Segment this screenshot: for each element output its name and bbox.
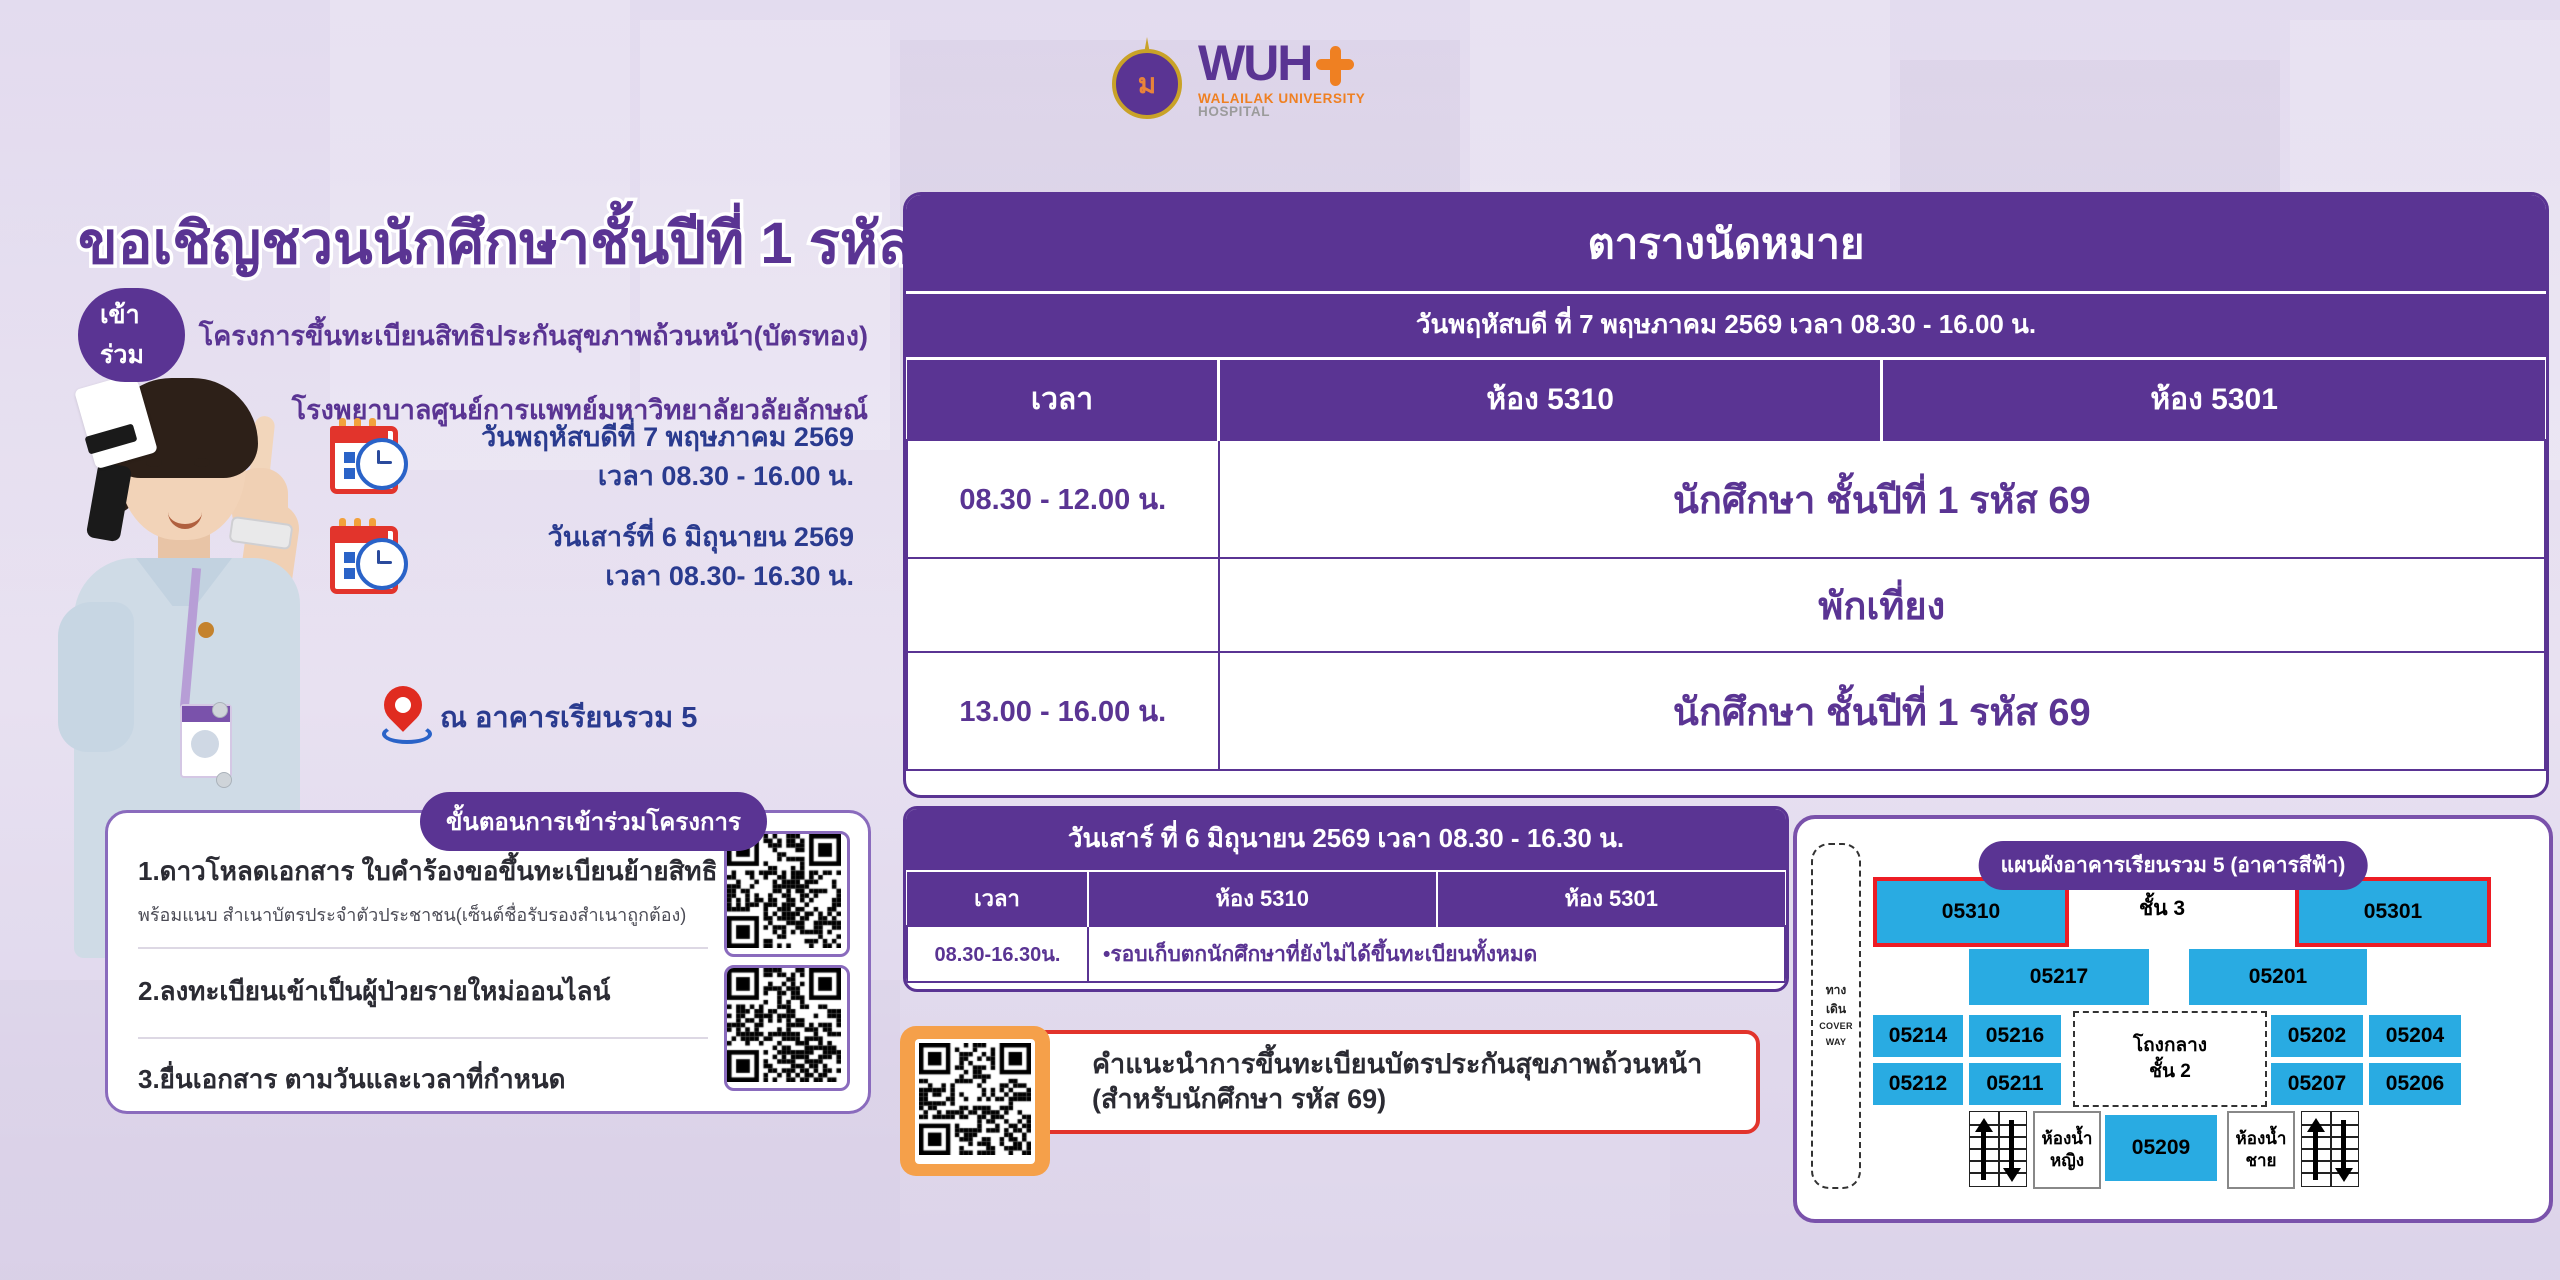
step-1-label: 1.ดาวโหลดเอกสาร ใบคำร้องขอขึ้นทะเบียนย้า…: [138, 851, 717, 892]
cell-time-afternoon: 13.00 - 16.00 น.: [907, 652, 1219, 770]
steps-title: ขั้นตอนการเข้าร่วมโครงการ: [420, 792, 767, 851]
cell-time-morning: 08.30 - 12.00 น.: [907, 440, 1219, 558]
schedule-date-saturday: วันเสาร์ ที่ 6 มิถุนายน 2569 เวลา 08.30 …: [906, 809, 1786, 870]
project-name: โครงการขึ้นทะเบียนสิทธิประกันสุขภาพถ้วนห…: [199, 314, 868, 357]
room-label: 05217: [2030, 965, 2088, 989]
time-line-2: เวลา 08.30- 16.30 น.: [605, 561, 854, 591]
table-row: 13.00 - 16.00 น. นักศึกษา ชั้นปีที่ 1 รห…: [907, 652, 2545, 770]
schedule-title: ตารางนัดหมาย: [906, 195, 2546, 291]
room-05206[interactable]: 05206: [2369, 1063, 2461, 1105]
calendar-clock-icon: [330, 418, 408, 490]
medical-cross-icon: [1314, 44, 1356, 88]
cell-activity-lunch: พักเที่ยง: [1219, 558, 2546, 652]
room-05211[interactable]: 05211: [1969, 1063, 2061, 1105]
map-pin-icon: [380, 686, 426, 748]
university-crest-icon: ม: [1110, 37, 1184, 119]
qr-code-register-online[interactable]: [724, 965, 850, 1091]
room-label: 05214: [1889, 1024, 1947, 1048]
room-label: 05201: [2249, 965, 2307, 989]
step-item: 3.ยื่นเอกสาร ตามวันและเวลาที่กำหนด: [138, 1059, 566, 1100]
step-item: 1.ดาวโหลดเอกสาร ใบคำร้องขอขึ้นทะเบียนย้า…: [138, 851, 717, 929]
room-label: 05204: [2386, 1024, 2444, 1048]
room-label: 05216: [1986, 1024, 2044, 1048]
saturday-schedule-table: วันเสาร์ ที่ 6 มิถุนายน 2569 เวลา 08.30 …: [903, 806, 1789, 992]
walkway-label-3: COVER: [1819, 1022, 1853, 1032]
subtitle-block: เข้าร่วม โครงการขึ้นทะเบียนสิทธิประกันสุ…: [78, 288, 868, 431]
callout-line-1: คำแนะนำการขึ้นทะเบียนบัตรประกันสุขภาพถ้ว…: [1092, 1047, 1702, 1082]
step-3-label: 3.ยื่นเอกสาร ตามวันและเวลาที่กำหนด: [138, 1059, 566, 1100]
cell-activity-morning: นักศึกษา ชั้นปีที่ 1 รหัส 69: [1219, 440, 2546, 558]
room-05204[interactable]: 05204: [2369, 1015, 2461, 1057]
header-room-5301: ห้อง 5301: [1882, 359, 2545, 441]
walkway-label-2: เดิน: [1826, 1003, 1846, 1016]
cell-note-saturday: •รอบเก็บตกนักศึกษาที่ยังไม่ได้ขึ้นทะเบีย…: [1088, 926, 1785, 982]
room-label: 05212: [1889, 1072, 1947, 1096]
table-row: 08.30-16.30น. •รอบเก็บตกนักศึกษาที่ยังไม…: [907, 926, 1785, 982]
header-room-5310: ห้อง 5310: [1088, 871, 1437, 926]
divider: [138, 947, 708, 949]
table-header-row: เวลา ห้อง 5310 ห้อง 5301: [907, 359, 2545, 441]
stairs-right-icon: [2301, 1111, 2359, 1187]
walkway-label-1: ทาง: [1826, 984, 1847, 997]
calendar-clock-icon: [330, 518, 408, 590]
wc-female-line-1: ห้องน้ำ: [2042, 1128, 2093, 1150]
restroom-female: ห้องน้ำ หญิง: [2033, 1111, 2101, 1189]
room-05209[interactable]: 05209: [2105, 1115, 2217, 1181]
wc-male-line-1: ห้องน้ำ: [2236, 1128, 2287, 1150]
date-row: วันพฤหัสบดีที่ 7 พฤษภาคม 2569 เวลา 08.30…: [330, 418, 854, 496]
room-label: 05310: [1942, 900, 2000, 924]
room-label: 05211: [1986, 1072, 2043, 1096]
room-05214[interactable]: 05214: [1873, 1015, 1963, 1057]
date-line-2: วันเสาร์ที่ 6 มิถุนายน 2569: [548, 522, 854, 552]
header-time: เวลา: [907, 359, 1219, 441]
atrium-label-2: ชั้น 2: [2149, 1059, 2191, 1085]
cover-way-corridor: ทาง เดิน COVER WAY: [1811, 843, 1861, 1189]
location-row: ณ อาคารเรียนรวม 5: [380, 686, 697, 748]
room-05207[interactable]: 05207: [2271, 1063, 2363, 1105]
floor-plan-title: แผนผังอาคารเรียนรวม 5 (อาคารสีฟ้า): [1979, 841, 2368, 890]
table-row: 08.30 - 12.00 น. นักศึกษา ชั้นปีที่ 1 รห…: [907, 440, 2545, 558]
room-05217[interactable]: 05217: [1969, 949, 2149, 1005]
atrium-label-1: โถงกลาง: [2133, 1033, 2207, 1059]
header-room-5310: ห้อง 5310: [1219, 359, 1882, 441]
cell-activity-afternoon: นักศึกษา ชั้นปีที่ 1 รหัส 69: [1219, 652, 2546, 770]
room-label: 05206: [2386, 1072, 2444, 1096]
room-label: 05202: [2288, 1024, 2346, 1048]
stairs-left-icon: [1969, 1111, 2027, 1187]
qr-code-guide[interactable]: [900, 1026, 1050, 1176]
join-badge: เข้าร่วม: [78, 288, 185, 382]
callout-line-2: (สำหรับนักศึกษา รหัส 69): [1092, 1082, 1702, 1117]
wc-female-line-2: หญิง: [2050, 1150, 2084, 1172]
central-atrium: โถงกลาง ชั้น 2: [2073, 1011, 2267, 1107]
time-line-1: เวลา 08.30 - 16.00 น.: [598, 461, 854, 491]
room-label: 05207: [2288, 1072, 2346, 1096]
event-dates-list: วันพฤหัสบดีที่ 7 พฤษภาคม 2569 เวลา 08.30…: [330, 418, 854, 619]
steps-card: 1.ดาวโหลดเอกสาร ใบคำร้องขอขึ้นทะเบียนย้า…: [105, 810, 871, 1114]
schedule-date-thursday: วันพฤหัสบดี ที่ 7 พฤษภาคม 2569 เวลา 08.3…: [906, 291, 2546, 357]
page-title: ขอเชิญชวนนักศึกษาชั้นปีที่ 1 รหัส 69: [78, 196, 994, 289]
walkway-label-4: WAY: [1826, 1038, 1847, 1048]
room-05212[interactable]: 05212: [1873, 1063, 1963, 1105]
header-time: เวลา: [907, 871, 1088, 926]
room-label: 05209: [2132, 1136, 2190, 1160]
restroom-male: ห้องน้ำ ชาย: [2227, 1111, 2295, 1189]
room-05201[interactable]: 05201: [2189, 949, 2367, 1005]
header-room-5301: ห้อง 5301: [1437, 871, 1786, 926]
step-1-note: พร้อมแนบ สำเนาบัตรประจำตัวประชาชน(เซ็นต์…: [138, 900, 717, 929]
step-2-label: 2.ลงทะเบียนเข้าเป็นผู้ป่วยรายใหม่ออนไลน์: [138, 971, 610, 1012]
divider: [138, 1037, 708, 1039]
room-05216[interactable]: 05216: [1969, 1015, 2061, 1057]
step-item: 2.ลงทะเบียนเข้าเป็นผู้ป่วยรายใหม่ออนไลน์: [138, 971, 610, 1012]
date-row: วันเสาร์ที่ 6 มิถุนายน 2569 เวลา 08.30- …: [330, 518, 854, 596]
wuh-logo: ม WUH WALAILAK UNIVERSITY HOSPITAL: [1110, 28, 1440, 128]
date-line-1: วันพฤหัสบดีที่ 7 พฤษภาคม 2569: [481, 422, 854, 452]
appointment-schedule-table: ตารางนัดหมาย วันพฤหัสบดี ที่ 7 พฤษภาคม 2…: [903, 192, 2549, 798]
room-label: 05301: [2364, 900, 2422, 924]
location-text: ณ อาคารเรียนรวม 5: [440, 694, 697, 740]
wc-male-line-2: ชาย: [2245, 1150, 2276, 1172]
table-row: พักเที่ยง: [907, 558, 2545, 652]
logo-subtitle-secondary: HOSPITAL: [1198, 104, 1270, 119]
guide-callout[interactable]: คำแนะนำการขึ้นทะเบียนบัตรประกันสุขภาพถ้ว…: [900, 1026, 1760, 1138]
cell-time-saturday: 08.30-16.30น.: [907, 926, 1088, 982]
cell-time-lunch: [907, 558, 1219, 652]
room-05202[interactable]: 05202: [2271, 1015, 2363, 1057]
building-floor-plan: แผนผังอาคารเรียนรวม 5 (อาคารสีฟ้า) ทาง เ…: [1793, 815, 2553, 1223]
table-header-row: เวลา ห้อง 5310 ห้อง 5301: [907, 871, 1785, 926]
logo-wordmark: WUH: [1198, 38, 1311, 88]
crest-glyph: ม: [1138, 70, 1156, 98]
